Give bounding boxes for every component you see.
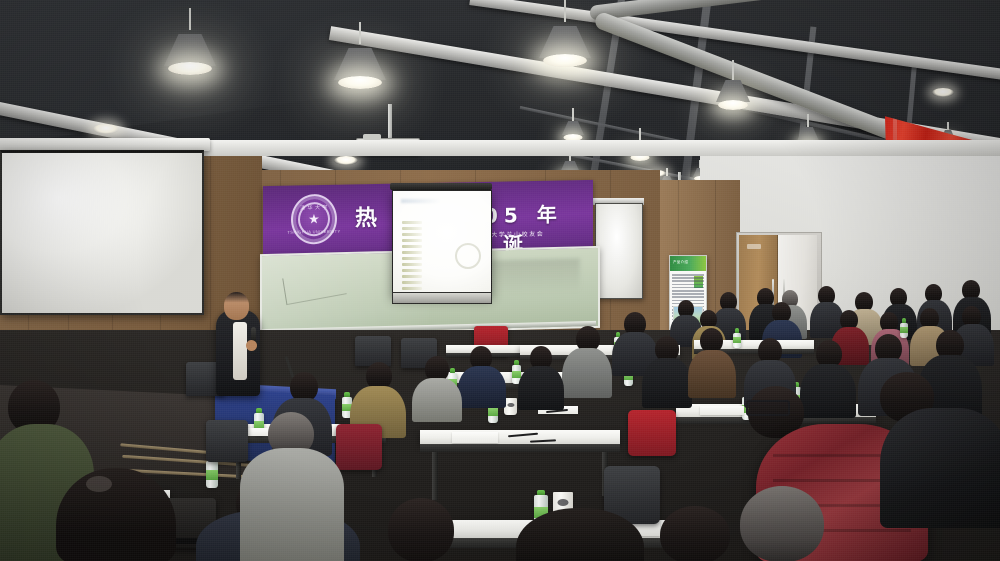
door-sign: [747, 244, 761, 249]
downlight: [334, 156, 358, 165]
audience-body: [518, 366, 564, 410]
projection-screen-right[interactable]: [595, 203, 643, 299]
audience-body: [240, 448, 344, 561]
presenter-head: [224, 292, 249, 320]
screen-bottom-bar: [392, 292, 492, 304]
audience-body: [688, 350, 736, 398]
audience-head: [740, 486, 824, 561]
presenter-shirt: [233, 322, 247, 380]
chair[interactable]: [355, 336, 391, 366]
note-paper[interactable]: [700, 406, 744, 415]
audience-body: [880, 408, 1000, 528]
projection-screen-center[interactable]: [392, 190, 492, 296]
conference-hall-photo: 清 华 大 学 ★ TSINGHUA UNIVERSITY 热 烈 105 年 …: [0, 0, 1000, 561]
chair[interactable]: [628, 410, 676, 456]
audience-body: [800, 364, 856, 418]
audience-head: [388, 498, 454, 561]
downlight: [932, 88, 954, 97]
hair-highlight: [86, 476, 112, 492]
seal-arc-bottom: TSINGHUA UNIVERSITY: [287, 229, 340, 235]
chair[interactable]: [336, 424, 382, 470]
table: [420, 430, 620, 444]
projection-screen-left[interactable]: [0, 150, 204, 315]
audience-head: [660, 506, 730, 561]
audience-body: [458, 366, 506, 408]
chair[interactable]: [206, 420, 248, 462]
note-paper[interactable]: [452, 432, 498, 443]
audience-body: [642, 358, 692, 408]
poster-header-text: 产品介绍: [673, 260, 688, 265]
presenter-hand: [246, 340, 257, 351]
seal-arc-top: 清 华 大 学: [300, 204, 328, 212]
table-leg: [432, 452, 438, 500]
eyeglasses-icon: [746, 400, 790, 416]
university-seal-icon: 清 华 大 学 ★ TSINGHUA UNIVERSITY: [291, 194, 337, 245]
water-bottle[interactable]: [900, 318, 908, 338]
downlight: [93, 124, 119, 134]
projector-mount-pole: [388, 104, 392, 138]
audience-body: [412, 378, 462, 422]
audience-body: [562, 348, 612, 398]
table-edge: [420, 444, 620, 452]
water-bottle[interactable]: [733, 328, 741, 348]
star-icon: ★: [308, 212, 320, 225]
screen-housing: [390, 183, 492, 190]
